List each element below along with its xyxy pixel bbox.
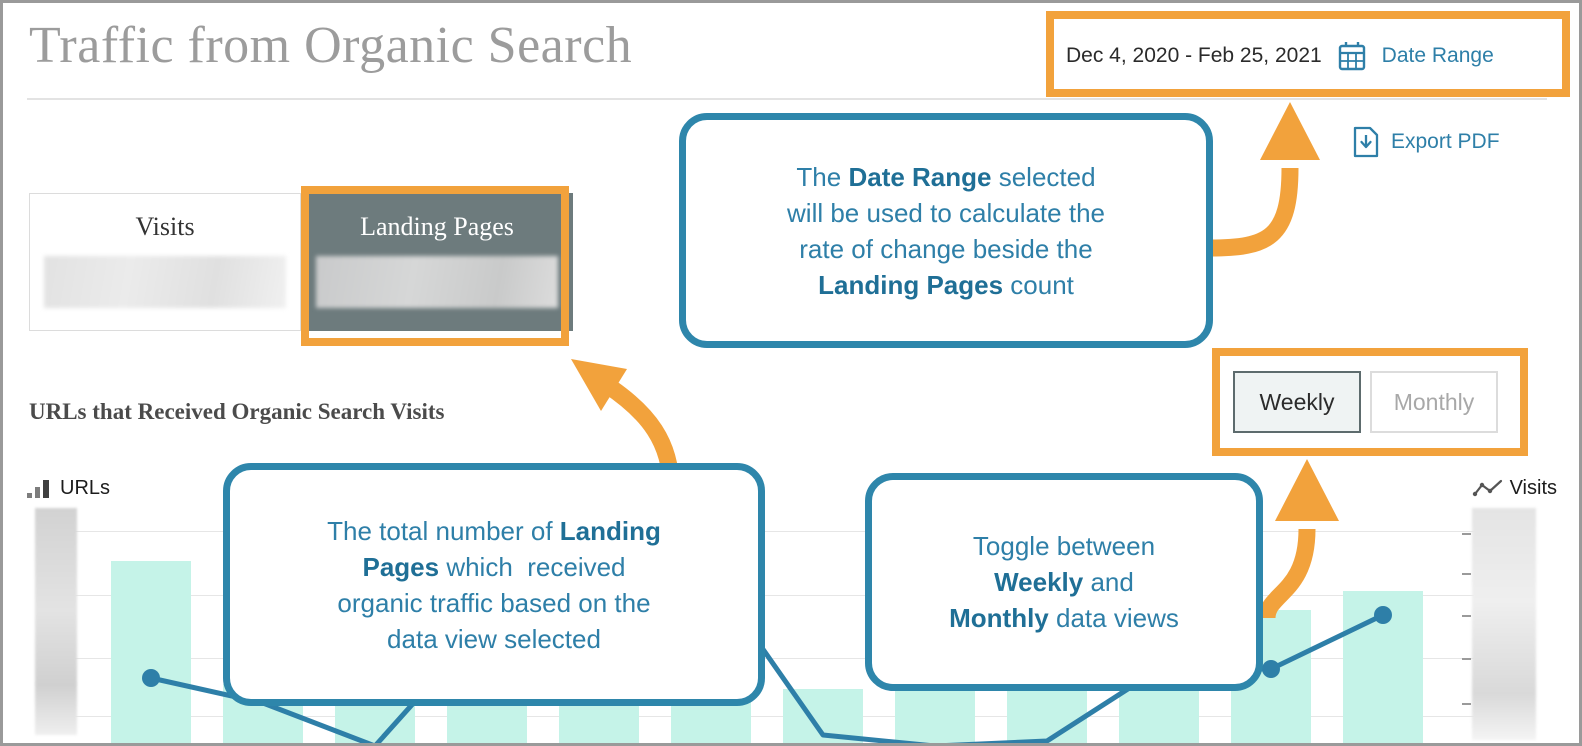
callout-landing-line2a: Pages [362,552,439,582]
y2-axis-labels-blurred [1472,508,1536,740]
axis-tick [1462,703,1471,705]
callout-toggle-line1: Toggle between [973,531,1155,561]
metric-tab-landing-pages-value-blurred [316,256,558,308]
calendar-icon [1338,41,1366,71]
legend-visits: Visits [1473,477,1557,500]
axis-tick [1462,615,1471,617]
callout-date-line4a: Landing Pages [818,270,1003,300]
date-range-value: Dec 4, 2020 - Feb 25, 2021 [1066,44,1322,68]
view-toggle-weekly[interactable]: Weekly [1233,371,1361,433]
callout-date-line2: will be used to calculate the [787,198,1105,228]
callout-date-line3: rate of change beside the [799,234,1092,264]
metric-tab-group[interactable]: Visits Landing Pages [29,193,573,331]
legend-urls: URLs [27,477,110,500]
callout-landing-pages: The total number of Landing Pages which … [223,463,765,706]
legend-urls-label: URLs [60,477,110,500]
page-title: Traffic from Organic Search [29,15,632,77]
arrow-to-view-toggle [1243,443,1393,623]
metric-tab-landing-pages[interactable]: Landing Pages [301,193,573,331]
date-range-label[interactable]: Date Range [1382,44,1494,68]
arrow-to-date-range [1198,98,1378,268]
callout-landing-line3: organic traffic based on the [337,588,650,618]
metric-tab-visits[interactable]: Visits [29,193,301,331]
callout-date-line4b: count [1003,270,1074,300]
legend-visits-label: Visits [1510,477,1557,500]
callout-landing-line2b: which received [439,552,625,582]
metric-tab-visits-label: Visits [30,212,300,242]
y-axis-labels-blurred [35,508,77,735]
axis-tick [1462,573,1471,575]
report-page: Traffic from Organic Search Dec 4, 2020 … [0,0,1582,746]
export-pdf-label: Export PDF [1391,130,1500,154]
callout-landing-line1b: Landing [560,516,661,546]
chart-heading: URLs that Received Organic Search Visits [29,399,444,425]
metric-tab-landing-pages-label: Landing Pages [302,212,572,242]
view-toggle-group[interactable]: Weekly Monthly [1233,371,1498,433]
callout-toggle-line3b: data views [1049,603,1179,633]
metric-tab-visits-value-blurred [44,256,286,308]
callout-date-range: The Date Range selected will be used to … [679,113,1213,348]
callout-date-line1a: The [796,162,848,192]
callout-landing-line4: data view selected [387,624,601,654]
callout-view-toggle: Toggle between Weekly and Monthly data v… [865,473,1263,691]
line-chart-icon [1473,480,1503,498]
axis-tick [1462,658,1471,660]
callout-date-line1b: Date Range [848,162,991,192]
axis-tick [1462,533,1471,535]
date-range-control[interactable]: Dec 4, 2020 - Feb 25, 2021 Date Range [1066,39,1494,73]
callout-toggle-line2b: and [1083,567,1134,597]
callout-date-line1c: selected [992,162,1096,192]
data-point [1262,660,1280,678]
view-toggle-monthly[interactable]: Monthly [1370,371,1498,433]
bar-chart-icon [27,480,53,498]
callout-toggle-line3a: Monthly [949,603,1049,633]
data-point [142,669,160,687]
callout-toggle-line2a: Weekly [994,567,1083,597]
callout-landing-line1a: The total number of [327,516,560,546]
